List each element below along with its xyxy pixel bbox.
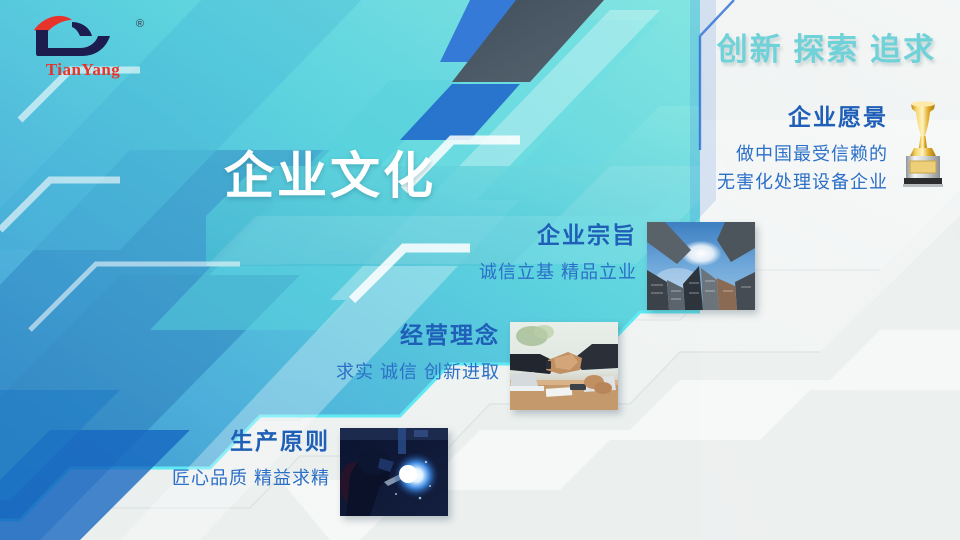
culture-item-purpose-heading: 企业宗旨 bbox=[455, 222, 637, 250]
culture-item-vision-line-1: 做中国最受信赖的 bbox=[688, 141, 888, 167]
registered-mark-icon: ® bbox=[136, 18, 144, 30]
skyscrapers-photo bbox=[647, 222, 755, 310]
culture-item-production-line-1: 匠心品质 精益求精 bbox=[150, 465, 330, 491]
culture-item-philosophy: 经营理念 求实 诚信 创新进取 bbox=[318, 322, 618, 410]
trophy-icon bbox=[894, 96, 952, 196]
handshake-photo bbox=[510, 322, 618, 410]
brand-wordmark: TianYang bbox=[28, 60, 138, 80]
tianyang-mark-icon bbox=[28, 14, 124, 60]
culture-item-philosophy-line-1: 求实 诚信 创新进取 bbox=[318, 359, 500, 385]
culture-item-vision-line-2: 无害化处理设备企业 bbox=[688, 169, 888, 195]
culture-item-vision: 企业愿景 做中国最受信赖的 无害化处理设备企业 bbox=[688, 104, 952, 196]
culture-item-philosophy-heading: 经营理念 bbox=[318, 322, 500, 350]
culture-item-purpose-line-1: 诚信立基 精品立业 bbox=[455, 259, 637, 285]
culture-item-production-heading: 生产原则 bbox=[150, 428, 330, 456]
page-title: 企业文化 bbox=[224, 136, 436, 208]
slogan-text: 创新 探索 追求 bbox=[717, 24, 936, 69]
welding-photo bbox=[340, 428, 448, 516]
brand-logo: ® TianYang bbox=[28, 14, 138, 80]
slide-canvas: ® TianYang 创新 探索 追求 企业文化 企业愿景 做中国最受信赖的 无… bbox=[0, 0, 960, 540]
culture-item-purpose: 企业宗旨 诚信立基 精品立业 bbox=[455, 222, 755, 310]
culture-item-production: 生产原则 匠心品质 精益求精 bbox=[150, 428, 448, 516]
culture-item-vision-heading: 企业愿景 bbox=[688, 104, 888, 132]
